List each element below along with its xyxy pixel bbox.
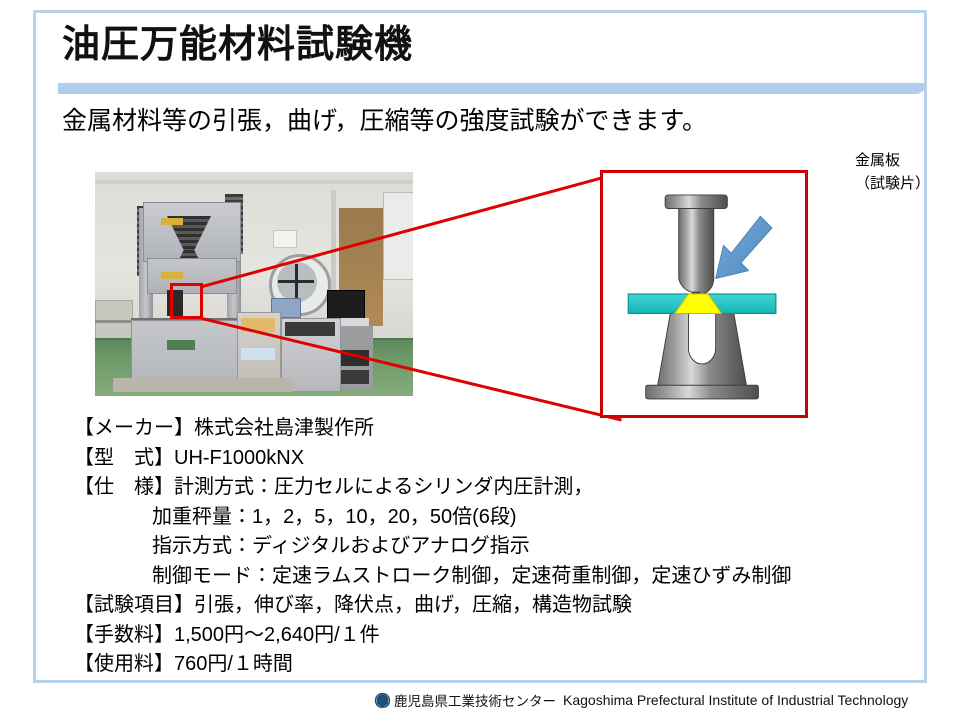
photo-computer-monitor <box>327 290 365 320</box>
machine-photo <box>95 172 413 396</box>
spec-line-load-range: 加重秤量：1，2，5，10，20，50倍(6段) <box>74 503 791 533</box>
photo-warning-label-1 <box>161 218 183 225</box>
photo-base-cabinet <box>131 320 253 384</box>
spec-line-usage-fee: 【使用料】760円/１時間 <box>74 650 791 680</box>
spec-line-model: 【型 式】UH-F1000kNX <box>74 444 791 474</box>
specification-list: 【メーカー】株式会社島津製作所 【型 式】UH-F1000kNX 【仕 様】計測… <box>74 414 791 680</box>
photo-control-panel-3 <box>285 322 335 336</box>
photo-control-panel-2 <box>241 348 275 360</box>
bend-test-diagram-box <box>600 170 808 418</box>
specimen-label: 金属板 （試験片） <box>855 150 930 195</box>
photo-zoom-region-rect <box>170 283 203 319</box>
bend-test-diagram <box>603 173 805 415</box>
photo-machine-base-plate <box>113 378 293 392</box>
spec-line-maker: 【メーカー】株式会社島津製作所 <box>74 414 791 444</box>
spec-line-test-items: 【試験項目】引張，伸び率，降伏点，曲げ，圧縮，構造物試験 <box>74 591 791 621</box>
footer-name-japanese: 鹿児島県工業技術センター <box>394 690 556 710</box>
photo-wall-note <box>273 230 297 248</box>
spec-line-indication: 指示方式：ディジタルおよびアナログ指示 <box>74 532 791 562</box>
spec-line-control-mode: 制御モード：定速ラムストローク制御，定速荷重制御，定速ひずみ制御 <box>74 562 791 592</box>
page-title: 油圧万能材料試験機 <box>62 24 413 68</box>
photo-ceiling-rail <box>95 180 413 184</box>
title-underline-bar <box>58 83 926 94</box>
subtitle-text: 金属材料等の引張，曲げ，圧縮等の強度試験ができます。 <box>62 105 707 138</box>
spec-line-spec-measure: 【仕 様】計測方式：圧力セルによるシリンダ内圧計測， <box>74 473 791 503</box>
footer: 鹿児島県工業技術センター Kagoshima Prefectural Insti… <box>0 688 960 712</box>
spec-line-fee: 【手数料】1,500円～2,640円/１件 <box>74 621 791 651</box>
institute-logo-icon <box>374 692 391 709</box>
photo-warning-label-2 <box>161 272 183 279</box>
footer-name-english: Kagoshima Prefectural Institute of Indus… <box>563 692 908 708</box>
specimen-label-line1: 金属板 <box>855 150 930 173</box>
photo-base-cabinet-badge <box>167 340 195 350</box>
photo-gauge-needle-horizontal <box>278 280 314 283</box>
specimen-label-line2: （試験片） <box>855 173 930 196</box>
photo-left-shelf-divider <box>95 320 131 323</box>
